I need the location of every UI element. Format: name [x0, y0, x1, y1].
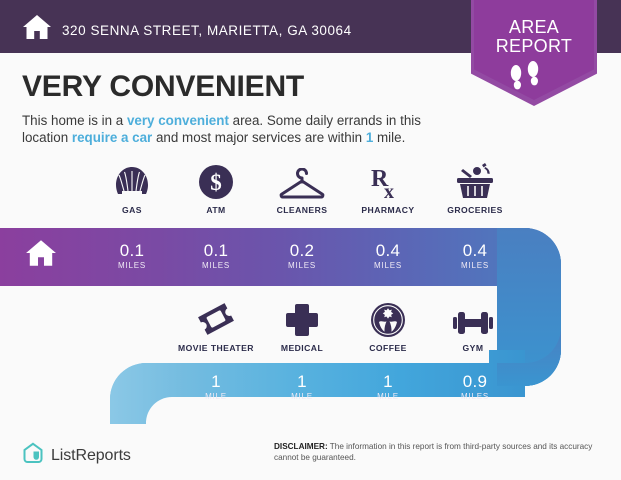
- area-report-infographic: 320 SENNA STREET, MARIETTA, GA 30064 ARE…: [0, 0, 621, 480]
- distance-unit: MILE: [352, 392, 424, 401]
- svg-text:x: x: [384, 181, 394, 200]
- category-medical: MEDICAL: [264, 298, 340, 353]
- category-label: GROCERIES: [433, 205, 517, 215]
- atm-dollar-icon: $: [180, 160, 252, 200]
- distance-unit: MILES: [439, 261, 511, 270]
- blurb-highlight-1: very convenient: [127, 113, 229, 128]
- distance-value: 1: [352, 373, 424, 391]
- disclaimer-label: DISCLAIMER:: [274, 442, 328, 451]
- blurb-part-3: and most major services are within: [152, 130, 366, 145]
- category-cleaners: CLEANERS: [262, 160, 342, 215]
- category-movie-theater: MOVIE THEATER: [176, 298, 256, 353]
- home-icon: [22, 13, 52, 41]
- distance-unit: MILES: [180, 261, 252, 270]
- footer-card: [146, 397, 621, 480]
- gas-shell-icon: [96, 160, 168, 200]
- category-coffee: COFFEE: [350, 298, 426, 353]
- starbucks-icon: [350, 298, 426, 338]
- category-label: ATM: [180, 205, 252, 215]
- distance-groceries: 0.4 MILES: [439, 242, 511, 270]
- distance-unit: MILES: [266, 261, 338, 270]
- distance-unit: MILES: [352, 261, 424, 270]
- dumbbell-icon: [435, 298, 511, 338]
- hanger-icon: [262, 160, 342, 200]
- badge-line-2: REPORT: [474, 36, 594, 57]
- page-title: VERY CONVENIENT: [22, 70, 304, 104]
- distance-unit: MILES: [439, 392, 511, 401]
- summary-text: This home is in a very convenient area. …: [22, 112, 442, 146]
- distance-gas: 0.1 MILES: [96, 242, 168, 270]
- distance-medical: 1 MILE: [266, 373, 338, 401]
- category-label: COFFEE: [350, 343, 426, 353]
- distance-value: 1: [266, 373, 338, 391]
- distance-coffee: 1 MILE: [352, 373, 424, 401]
- blurb-part-1: This home is in a: [22, 113, 127, 128]
- listreports-logo: ListReports: [22, 442, 131, 469]
- distance-unit: MILES: [96, 261, 168, 270]
- cross-icon: [264, 298, 340, 338]
- category-label: MOVIE THEATER: [176, 343, 256, 353]
- category-label: PHARMACY: [348, 205, 428, 215]
- category-atm: $ ATM: [180, 160, 252, 215]
- category-gym: GYM: [435, 298, 511, 353]
- listreports-wordmark: ListReports: [51, 447, 131, 465]
- category-label: MEDICAL: [264, 343, 340, 353]
- distance-atm: 0.1 MILES: [180, 242, 252, 270]
- distance-cleaners: 0.2 MILES: [266, 242, 338, 270]
- distance-value: 0.1: [96, 242, 168, 260]
- category-label: CLEANERS: [262, 205, 342, 215]
- row1-icons: GAS $ ATM CLEANERS R: [0, 160, 560, 226]
- blurb-part-4: mile.: [373, 130, 405, 145]
- rx-icon: R x: [348, 160, 428, 200]
- distance-unit: MILE: [180, 392, 252, 401]
- ribbon-home-icon: [18, 238, 64, 273]
- category-pharmacy: R x PHARMACY: [348, 160, 428, 215]
- distance-value: 0.1: [180, 242, 252, 260]
- listreports-house-icon: [22, 442, 44, 469]
- distance-pharmacy: 0.4 MILES: [352, 242, 424, 270]
- distance-value: 0.9: [439, 373, 511, 391]
- distance-value: 0.4: [352, 242, 424, 260]
- distance-value: 0.2: [266, 242, 338, 260]
- basket-icon: [433, 160, 517, 200]
- distance-value: 0.4: [439, 242, 511, 260]
- footprints-icon: [505, 60, 549, 99]
- badge-line-1: AREA: [474, 17, 594, 38]
- distance-unit: MILE: [266, 392, 338, 401]
- category-groceries: GROCERIES: [433, 160, 517, 215]
- category-label: GAS: [96, 205, 168, 215]
- category-label: GYM: [435, 343, 511, 353]
- ticket-icon: [176, 298, 256, 338]
- svg-text:$: $: [210, 170, 222, 195]
- distance-gym: 0.9 MILES: [439, 373, 511, 401]
- property-address: 320 SENNA STREET, MARIETTA, GA 30064: [62, 23, 352, 38]
- disclaimer: DISCLAIMER: The information in this repo…: [274, 441, 604, 463]
- distance-value: 1: [180, 373, 252, 391]
- category-gas: GAS: [96, 160, 168, 215]
- blurb-highlight-2: require a car: [72, 130, 152, 145]
- distance-movie-theater: 1 MILE: [180, 373, 252, 401]
